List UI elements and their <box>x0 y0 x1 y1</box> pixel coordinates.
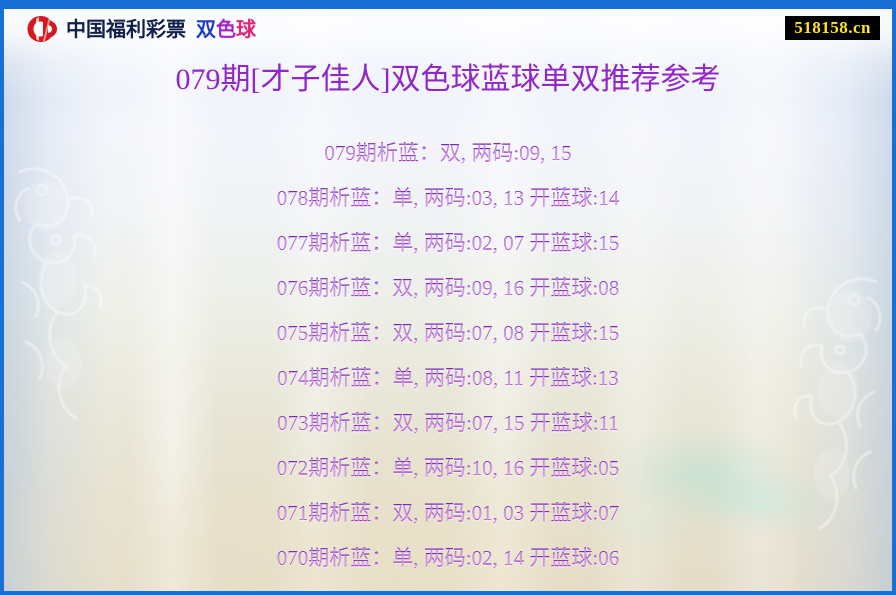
page-title: 079期[才子佳人]双色球蓝球单双推荐参考 <box>4 61 892 99</box>
list-item: 078期析蓝：单, 两码:03, 13 开蓝球:14 <box>4 175 892 220</box>
brand-game-char-2: 色 <box>216 17 236 41</box>
prediction-text: 075期析蓝：双, 两码:07, 08 开蓝球:15 <box>277 319 619 347</box>
page-root: 中国福利彩票 双色球 518158.cn 079期[才子佳人]双色球蓝球单双推荐… <box>0 0 896 595</box>
list-item: 076期析蓝：双, 两码:09, 16 开蓝球:08 <box>4 265 892 310</box>
prediction-text: 078期析蓝：单, 两码:03, 13 开蓝球:14 <box>277 184 619 212</box>
list-item: 079期析蓝：双, 两码:09, 15 <box>4 130 892 175</box>
brand-lockup[interactable]: 中国福利彩票 双色球 <box>26 13 256 45</box>
list-item: 074期析蓝：单, 两码:08, 11 开蓝球:13 <box>4 355 892 400</box>
list-item: 071期析蓝：双, 两码:01, 03 开蓝球:07 <box>4 490 892 535</box>
prediction-text: 077期析蓝：单, 两码:02, 07 开蓝球:15 <box>277 229 619 257</box>
list-item: 077期析蓝：单, 两码:02, 07 开蓝球:15 <box>4 220 892 265</box>
brand-game-char-1: 双 <box>196 17 216 41</box>
brand-name-cn: 中国福利彩票 <box>66 19 186 39</box>
header-top-rule <box>4 4 892 9</box>
prediction-text: 079期析蓝：双, 两码:09, 15 <box>324 139 571 167</box>
list-item: 072期析蓝：单, 两码:10, 16 开蓝球:05 <box>4 445 892 490</box>
prediction-list: 079期析蓝：双, 两码:09, 15 078期析蓝：单, 两码:03, 13 … <box>4 130 892 580</box>
prediction-text: 074期析蓝：单, 两码:08, 11 开蓝球:13 <box>277 364 619 392</box>
list-item: 075期析蓝：双, 两码:07, 08 开蓝球:15 <box>4 310 892 355</box>
site-header: 中国福利彩票 双色球 <box>4 4 892 52</box>
prediction-text: 071期析蓝：双, 两码:01, 03 开蓝球:07 <box>277 499 619 527</box>
brand-game-char-3: 球 <box>236 17 256 41</box>
site-watermark-badge: 518158.cn <box>785 16 880 40</box>
brand-game-name: 双色球 <box>196 19 256 39</box>
list-item: 073期析蓝：双, 两码:07, 15 开蓝球:11 <box>4 400 892 445</box>
prediction-text: 070期析蓝：单, 两码:02, 14 开蓝球:06 <box>277 544 619 572</box>
cwl-logo-icon <box>26 14 58 44</box>
prediction-text: 072期析蓝：单, 两码:10, 16 开蓝球:05 <box>277 454 619 482</box>
prediction-text: 073期析蓝：双, 两码:07, 15 开蓝球:11 <box>277 409 619 437</box>
prediction-text: 076期析蓝：双, 两码:09, 16 开蓝球:08 <box>277 274 619 302</box>
list-item: 070期析蓝：单, 两码:02, 14 开蓝球:06 <box>4 535 892 580</box>
